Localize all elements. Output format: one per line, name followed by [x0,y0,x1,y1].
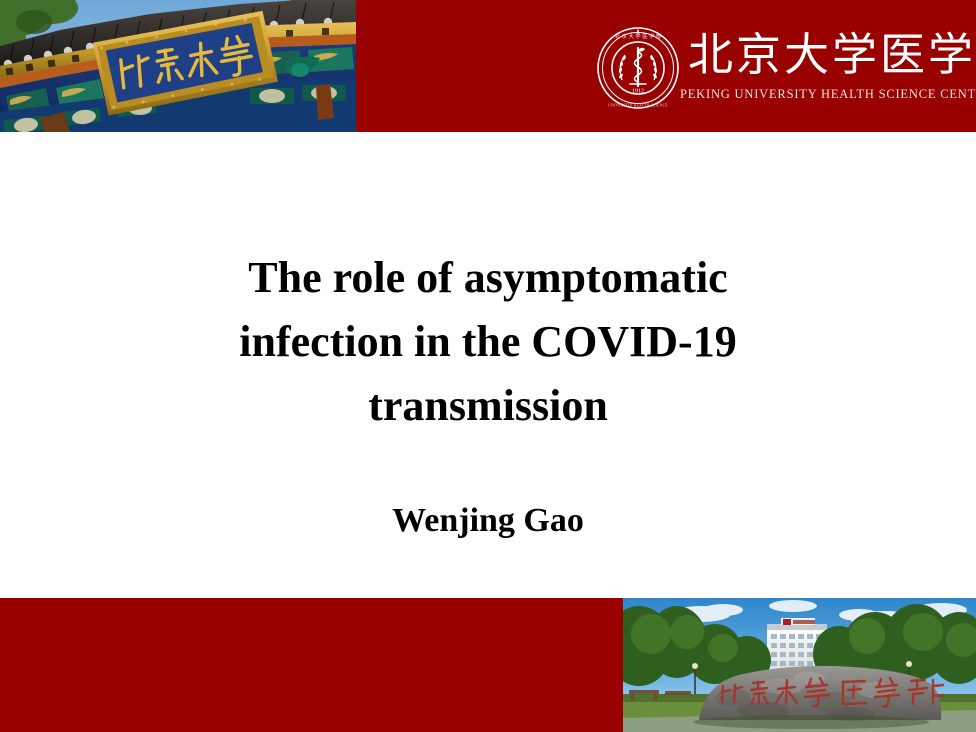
logo-english-name: PEKING UNIVERSITY HEALTH SCIENCE CENTER [680,86,956,102]
logo-chinese-name: 北京大学医学部 [688,26,954,86]
presentation-slide: 北 京 大 学 医 学 部 UNIVERSITY HEALTH SCIENCE [0,0,976,732]
svg-text:1912: 1912 [632,89,644,95]
slide-title-line: The role of asymptomatic [108,246,868,310]
svg-text:UNIVERSITY HEALTH SCIENCE: UNIVERSITY HEALTH SCIENCE [608,104,668,108]
slide-title: The role of asymptomatic infection in th… [108,246,868,438]
campus-stone-photo [623,598,976,732]
university-gate-photo [0,0,356,132]
slide-title-line: infection in the COVID-19 [108,310,868,374]
slide-author: Wenjing Gao [108,500,868,542]
footer-band [0,598,976,732]
slide-title-line: transmission [108,374,868,438]
svg-text:北 京 大 学 医 学 部: 北 京 大 学 医 学 部 [615,32,661,40]
university-emblem-icon: 北 京 大 学 医 学 部 UNIVERSITY HEALTH SCIENCE [596,26,680,110]
university-logo: 北 京 大 学 医 学 部 UNIVERSITY HEALTH SCIENCE [596,24,956,112]
slide-content-area: The role of asymptomatic infection in th… [0,132,976,598]
header-band: 北 京 大 学 医 学 部 UNIVERSITY HEALTH SCIENCE [0,0,976,132]
